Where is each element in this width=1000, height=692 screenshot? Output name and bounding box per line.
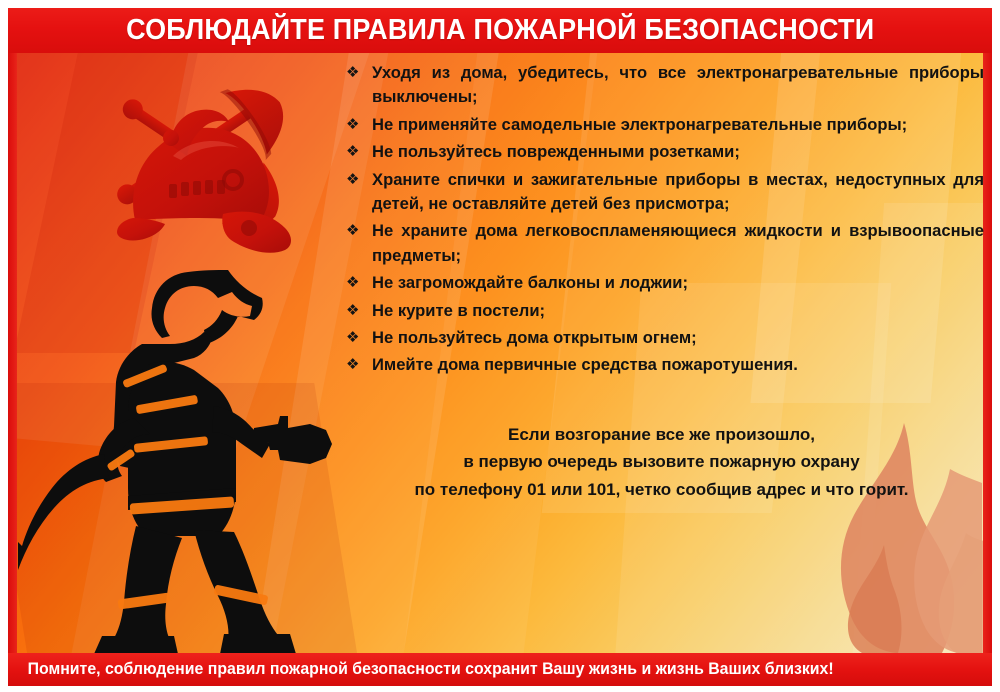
rule-text: Не загромождайте балконы и лоджии; — [372, 273, 688, 292]
rule-text: Не применяйте самодельные электронагрева… — [372, 115, 907, 134]
header-banner-text: СОБЛЮДАЙТЕ ПРАВИЛА ПОЖАРНОЙ БЕЗОПАСНОСТИ — [126, 14, 874, 47]
rule-text: Не пользуйтесь дома открытым огнем; — [372, 328, 697, 347]
rule-text: Не храните дома легковоспламеняющиеся жи… — [372, 221, 984, 264]
closing-line-3: по телефону 01 или 101, четко сообщив ад… — [339, 476, 984, 504]
diamond-bullet-icon: ❖ — [346, 140, 359, 163]
list-item: ❖ Не храните дома легковоспламеняющиеся … — [339, 219, 984, 268]
closing-paragraph: Если возгорание все же произошло, в перв… — [339, 421, 984, 504]
rule-text: Имейте дома первичные средства пожаротуш… — [372, 355, 798, 374]
list-item: ❖ Уходя из дома, убедитесь, что все элек… — [339, 61, 984, 110]
list-item: ❖ Имейте дома первичные средства пожарот… — [339, 353, 984, 377]
header-banner: СОБЛЮДАЙТЕ ПРАВИЛА ПОЖАРНОЙ БЕЗОПАСНОСТИ — [8, 8, 992, 53]
fire-safety-poster: СОБЛЮДАЙТЕ ПРАВИЛА ПОЖАРНОЙ БЕЗОПАСНОСТИ — [0, 0, 1000, 692]
list-item: ❖ Не применяйте самодельные электронагре… — [339, 113, 984, 137]
content-column: ВО ИЗБЕЖАНИЕ ПОЖАРА : ❖ Уходя из дома, у… — [339, 32, 984, 503]
list-item: ❖ Храните спички и зажигательные приборы… — [339, 168, 984, 217]
rules-list: ❖ Уходя из дома, убедитесь, что все элек… — [339, 61, 984, 378]
closing-line-2: в первую очередь вызовите пожарную охран… — [339, 448, 984, 476]
diamond-bullet-icon: ❖ — [346, 299, 359, 322]
diamond-bullet-icon: ❖ — [346, 219, 359, 242]
right-red-edge — [983, 53, 992, 653]
footer-banner: Помните, соблюдение правил пожарной безо… — [8, 653, 992, 686]
rule-text: Не пользуйтесь поврежденными розетками; — [372, 142, 740, 161]
diamond-bullet-icon: ❖ — [346, 271, 359, 294]
list-item: ❖ Не пользуйтесь дома открытым огнем; — [339, 326, 984, 350]
left-red-edge — [8, 53, 17, 653]
rule-text: Уходя из дома, убедитесь, что все электр… — [372, 63, 984, 106]
diamond-bullet-icon: ❖ — [346, 326, 359, 349]
firefighter-with-hose-silhouette-icon — [18, 258, 348, 653]
firefighter-helmet-and-crossed-axes-icon — [73, 68, 313, 263]
diamond-bullet-icon: ❖ — [346, 113, 359, 136]
diamond-bullet-icon: ❖ — [346, 61, 359, 84]
closing-line-1: Если возгорание все же произошло, — [339, 421, 984, 449]
footer-banner-text: Помните, соблюдение правил пожарной безо… — [8, 660, 834, 679]
diamond-bullet-icon: ❖ — [346, 353, 359, 376]
list-item: ❖ Не загромождайте балконы и лоджии; — [339, 271, 984, 295]
rule-text: Храните спички и зажигательные приборы в… — [372, 170, 984, 213]
rule-text: Не курите в постели; — [372, 301, 545, 320]
diamond-bullet-icon: ❖ — [346, 168, 359, 191]
list-item: ❖ Не курите в постели; — [339, 299, 984, 323]
list-item: ❖ Не пользуйтесь поврежденными розетками… — [339, 140, 984, 164]
